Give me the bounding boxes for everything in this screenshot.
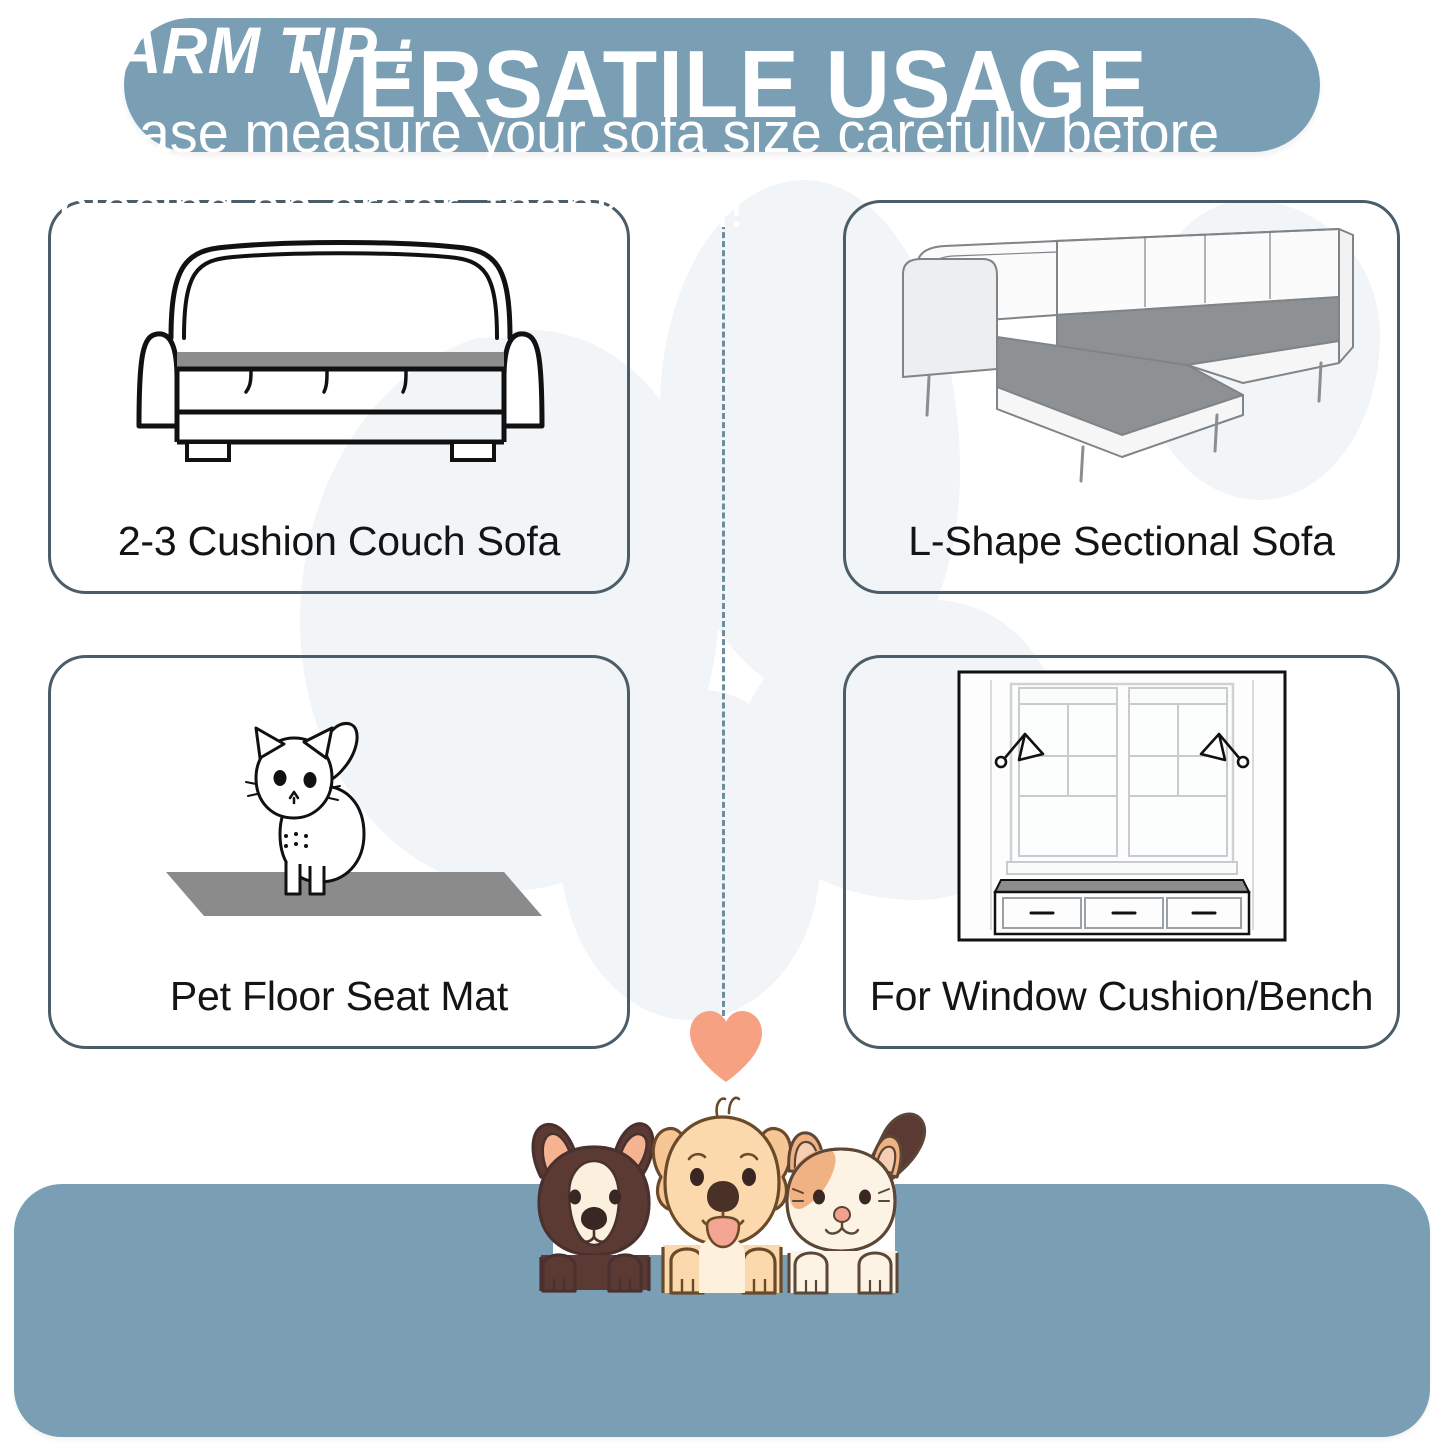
cat-on-floor-mat-illustration [51,658,627,954]
window-bench-illustration [846,658,1397,954]
heart-icon [686,1008,766,1086]
warm-tip-line-1: Please measure your sofa size carefully … [58,96,1361,171]
pets-illustration [493,1085,955,1300]
usage-card-pet-mat: Pet Floor Seat Mat [48,655,630,1049]
usage-card-window-bench: For Window Cushion/Bench [843,655,1400,1049]
usage-card-label: Pet Floor Seat Mat [51,973,627,1020]
couch-sofa-illustration [51,203,627,499]
usage-card-label: L-Shape Sectional Sofa [846,518,1397,565]
l-shape-sectional-sofa-illustration [846,203,1397,499]
warm-tip-body: Please measure your sofa size carefully … [58,96,1361,246]
warm-tip-heading: WARM TIP : [60,12,414,88]
vertical-dashed-divider [722,205,725,1025]
warm-tip-line-2: placing an order, thank you! [58,171,1361,246]
usage-card-label: 2-3 Cushion Couch Sofa [51,518,627,565]
usage-card-label: For Window Cushion/Bench [846,973,1397,1020]
usage-card-couch-sofa: 2-3 Cushion Couch Sofa [48,200,630,594]
usage-card-sectional-sofa: L-Shape Sectional Sofa [843,200,1400,594]
